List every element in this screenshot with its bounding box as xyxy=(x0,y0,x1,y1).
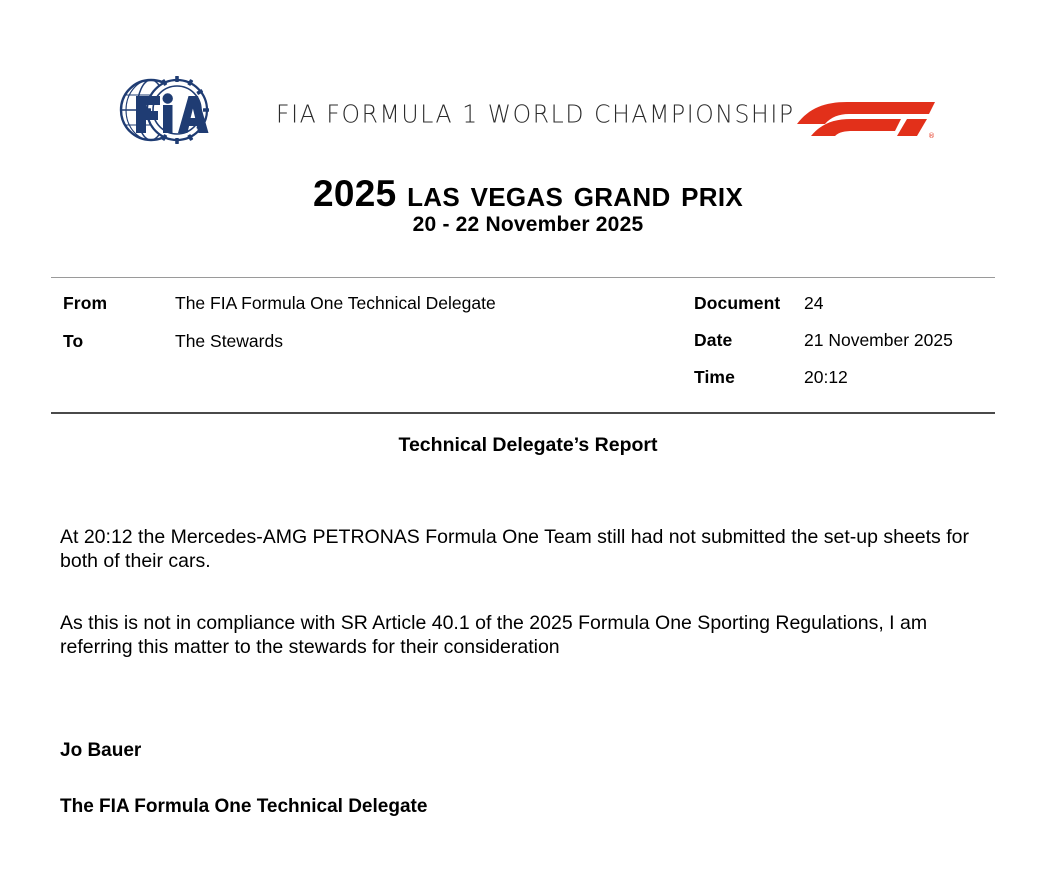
document-page: FIA FORMULA 1 WORLD CHAMPIONSHIP ® 2025 … xyxy=(0,0,1056,878)
report-paragraph-1: At 20:12 the Mercedes-AMG PETRONAS Formu… xyxy=(60,525,990,573)
document-masthead: FIA FORMULA 1 WORLD CHAMPIONSHIP ® xyxy=(0,72,1056,160)
document-metadata: From The FIA Formula One Technical Deleg… xyxy=(0,293,1056,405)
meta-label-from: From xyxy=(63,293,107,314)
f1-logo-icon: ® xyxy=(795,94,937,142)
report-heading: Technical Delegate’s Report xyxy=(0,434,1056,457)
meta-value-document: 24 xyxy=(804,293,823,314)
report-body: At 20:12 the Mercedes-AMG PETRONAS Formu… xyxy=(60,525,990,697)
meta-value-time: 20:12 xyxy=(804,367,848,388)
meta-value-from: The FIA Formula One Technical Delegate xyxy=(175,293,496,314)
meta-rule-top xyxy=(51,277,995,278)
event-title-name: Las Vegas Grand Prix xyxy=(407,173,743,214)
meta-value-date: 21 November 2025 xyxy=(804,330,953,351)
event-title-year: 2025 xyxy=(313,173,397,214)
meta-label-to: To xyxy=(63,331,83,352)
svg-text:®: ® xyxy=(928,132,935,140)
signature-name: Jo Bauer xyxy=(60,740,141,762)
event-dates: 20 - 22 November 2025 xyxy=(0,213,1056,237)
fia-logo-icon xyxy=(118,74,210,146)
meta-label-time: Time xyxy=(694,367,735,388)
championship-title: FIA FORMULA 1 WORLD CHAMPIONSHIP xyxy=(276,99,746,129)
meta-value-to: The Stewards xyxy=(175,331,283,352)
meta-rule-bottom xyxy=(51,412,995,414)
signature-role: The FIA Formula One Technical Delegate xyxy=(60,796,427,818)
event-title: 2025 Las Vegas Grand Prix xyxy=(0,172,1056,216)
meta-label-document: Document xyxy=(694,293,780,314)
report-paragraph-2: As this is not in compliance with SR Art… xyxy=(60,611,990,659)
meta-label-date: Date xyxy=(694,330,732,351)
